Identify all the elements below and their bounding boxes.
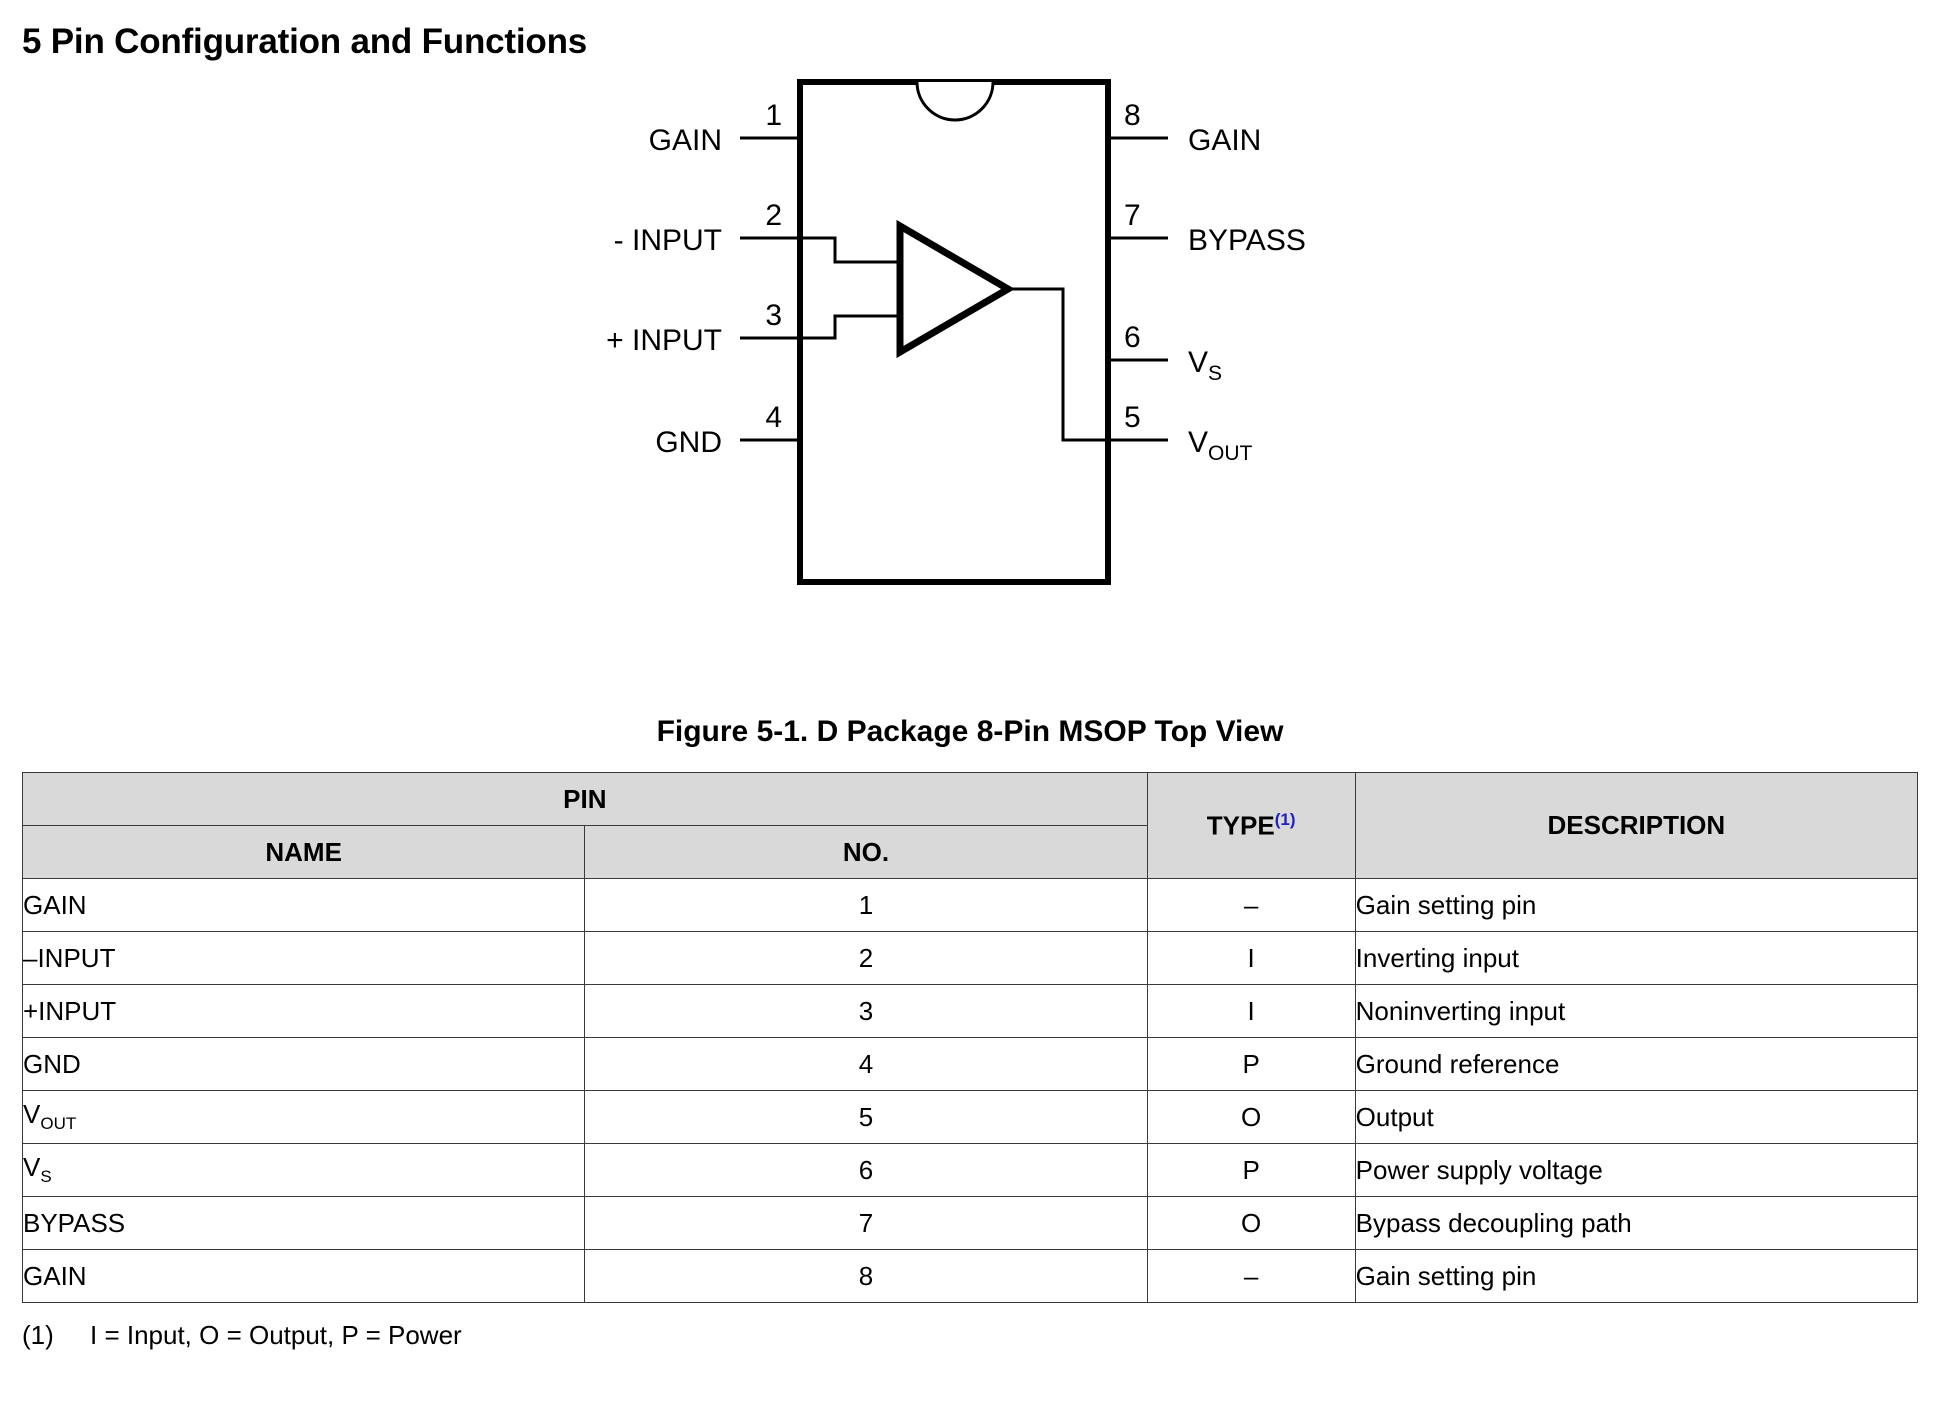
pin-label-gain-1: GAIN (649, 124, 722, 157)
table-row: GAIN8–Gain setting pin (23, 1250, 1918, 1303)
table-body: GAIN1–Gain setting pin–INPUT2IInverting … (23, 879, 1918, 1303)
table-row: +INPUT3INoninverting input (23, 985, 1918, 1038)
cell-pin-number: 4 (585, 1038, 1147, 1091)
cell-pin-description: Inverting input (1355, 932, 1917, 985)
cell-pin-number: 2 (585, 932, 1147, 985)
figure-caption: Figure 5-1. D Package 8-Pin MSOP Top Vie… (0, 715, 1940, 749)
cell-pin-number: 5 (585, 1091, 1147, 1144)
pin-number-3: 3 (765, 299, 782, 332)
cell-pin-name-base: GAIN (23, 1261, 87, 1291)
cell-pin-type: O (1147, 1197, 1355, 1250)
pin-number-1: 1 (765, 99, 782, 132)
cell-pin-type: I (1147, 932, 1355, 985)
cell-pin-number: 1 (585, 879, 1147, 932)
cell-pin-name: GND (23, 1038, 585, 1091)
cell-pin-name: GAIN (23, 879, 585, 932)
cell-pin-name-base: GAIN (23, 890, 87, 920)
cell-pin-name: –INPUT (23, 932, 585, 985)
table-row: GAIN1–Gain setting pin (23, 879, 1918, 932)
cell-pin-name-subscript: S (40, 1168, 51, 1187)
header-name: NAME (23, 826, 585, 879)
pin-label-vs: VS (1188, 346, 1222, 385)
table-header-row-group: PIN TYPE(1) DESCRIPTION (23, 773, 1918, 826)
cell-pin-name-base: +INPUT (23, 996, 116, 1026)
header-no: NO. (585, 826, 1147, 879)
cell-pin-name-base: V (23, 1099, 40, 1129)
pin-label-vout-subscript: OUT (1208, 442, 1253, 465)
table-row: VOUT5OOutput (23, 1091, 1918, 1144)
cell-pin-type: – (1147, 1250, 1355, 1303)
pin-number-6: 6 (1124, 321, 1141, 354)
cell-pin-type: – (1147, 879, 1355, 932)
cell-pin-description: Gain setting pin (1355, 1250, 1917, 1303)
pin-label-vs-subscript: S (1208, 362, 1222, 385)
cell-pin-description: Gain setting pin (1355, 879, 1917, 932)
table-footnote: (1)I = Input, O = Output, P = Power (22, 1320, 462, 1351)
pin-label-vout: VOUT (1188, 426, 1253, 465)
pin-label-gain-8: GAIN (1188, 124, 1261, 157)
cell-pin-number: 3 (585, 985, 1147, 1038)
pin-number-5: 5 (1124, 401, 1141, 434)
cell-pin-name: VOUT (23, 1091, 585, 1144)
pin-label-bypass: BYPASS (1188, 224, 1306, 257)
cell-pin-description: Bypass decoupling path (1355, 1197, 1917, 1250)
table-row: VS6PPower supply voltage (23, 1144, 1918, 1197)
cell-pin-number: 7 (585, 1197, 1147, 1250)
page-title: 5 Pin Configuration and Functions (22, 22, 587, 62)
pin-label-vout-base: V (1188, 426, 1208, 459)
table-row: GND4PGround reference (23, 1038, 1918, 1091)
header-type-label: TYPE (1207, 810, 1275, 840)
package-diagram: 1 2 3 4 GAIN - INPUT + INPUT GND 8 7 6 5… (0, 70, 1940, 650)
cell-pin-description: Ground reference (1355, 1038, 1917, 1091)
pin-number-7: 7 (1124, 199, 1141, 232)
cell-pin-name: VS (23, 1144, 585, 1197)
cell-pin-description: Output (1355, 1091, 1917, 1144)
pin-number-2: 2 (765, 199, 782, 232)
cell-pin-name: BYPASS (23, 1197, 585, 1250)
cell-pin-type: I (1147, 985, 1355, 1038)
table-head: PIN TYPE(1) DESCRIPTION NAME NO. (23, 773, 1918, 879)
footnote-marker: (1) (22, 1320, 90, 1351)
cell-pin-name: +INPUT (23, 985, 585, 1038)
cell-pin-name-base: GND (23, 1049, 81, 1079)
cell-pin-type: O (1147, 1091, 1355, 1144)
cell-pin-number: 8 (585, 1250, 1147, 1303)
pin-label-vs-base: V (1188, 346, 1208, 379)
pin-label-plus-input: + INPUT (606, 324, 722, 357)
cell-pin-name: GAIN (23, 1250, 585, 1303)
pin-number-4: 4 (765, 401, 782, 434)
cell-pin-description: Power supply voltage (1355, 1144, 1917, 1197)
pin-number-8: 8 (1124, 99, 1141, 132)
header-pin-group: PIN (23, 773, 1148, 826)
pin-functions-table: PIN TYPE(1) DESCRIPTION NAME NO. GAIN1–G… (22, 772, 1918, 1303)
cell-pin-name-base: BYPASS (23, 1208, 125, 1238)
cell-pin-name-base: –INPUT (23, 943, 115, 973)
cell-pin-name-base: V (23, 1152, 40, 1182)
table-row: –INPUT2IInverting input (23, 932, 1918, 985)
cell-pin-name-subscript: OUT (40, 1115, 76, 1134)
pin-label-minus-input: - INPUT (614, 224, 722, 257)
cell-pin-type: P (1147, 1144, 1355, 1197)
footnote-text: I = Input, O = Output, P = Power (90, 1320, 462, 1350)
header-type: TYPE(1) (1147, 773, 1355, 879)
cell-pin-type: P (1147, 1038, 1355, 1091)
header-type-footnote-ref[interactable]: (1) (1275, 810, 1296, 829)
pin-configuration-figure: 1 2 3 4 GAIN - INPUT + INPUT GND 8 7 6 5… (0, 70, 1940, 650)
cell-pin-description: Noninverting input (1355, 985, 1917, 1038)
cell-pin-number: 6 (585, 1144, 1147, 1197)
table-row: BYPASS7OBypass decoupling path (23, 1197, 1918, 1250)
pin-functions-table-container: PIN TYPE(1) DESCRIPTION NAME NO. GAIN1–G… (22, 772, 1918, 1303)
pin-label-gnd: GND (655, 426, 722, 459)
header-description: DESCRIPTION (1355, 773, 1917, 879)
